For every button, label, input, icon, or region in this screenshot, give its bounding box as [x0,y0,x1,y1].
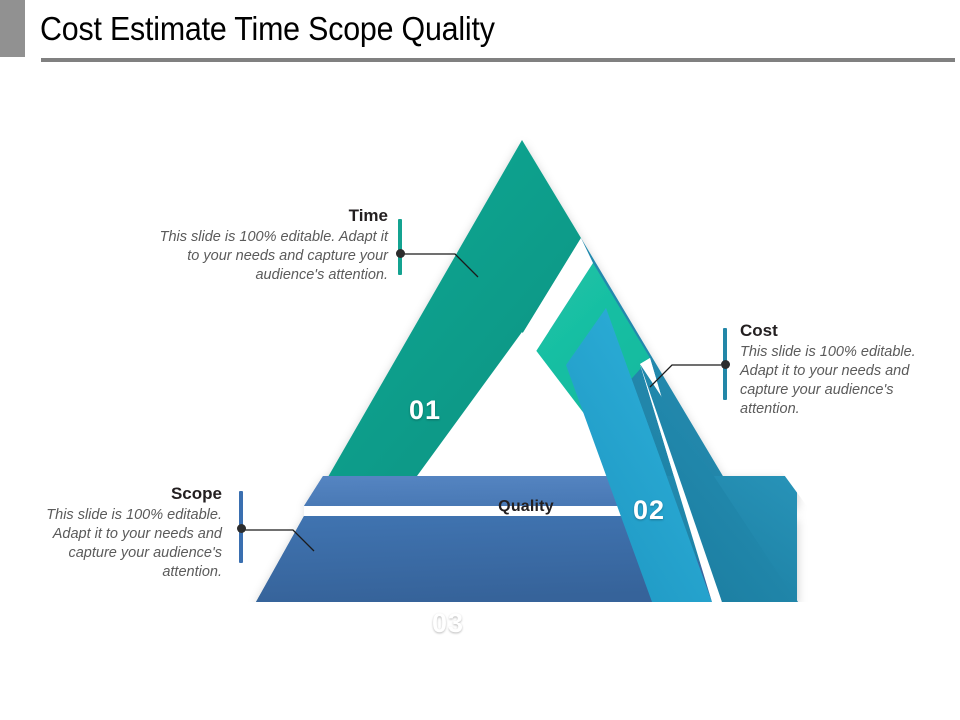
callout-scope-title: Scope [18,484,222,504]
callout-time-connector-dot [396,249,405,258]
callout-cost-title: Cost [740,321,952,341]
callout-scope[interactable]: Scope This slide is 100% editable. Adapt… [18,484,222,582]
callout-scope-connector-dot [237,524,246,533]
callout-time-accent-bar [398,219,402,275]
center-label-quality: Quality [466,498,586,516]
callout-cost-body: This slide is 100% editable. Adapt it to… [740,343,952,419]
callout-cost-connector-dot [721,360,730,369]
mask-below-baseline [0,602,960,720]
callout-time-title: Time [158,206,388,226]
callout-scope-body: This slide is 100% editable. Adapt it to… [18,506,222,582]
callout-time-body: This slide is 100% editable. Adapt it to… [158,228,388,285]
callout-time[interactable]: Time This slide is 100% editable. Adapt … [158,206,388,285]
page-title: Cost Estimate Time Scope Quality [40,9,495,49]
header-accent-bar [0,0,25,57]
callout-cost[interactable]: Cost This slide is 100% editable. Adapt … [740,321,952,419]
